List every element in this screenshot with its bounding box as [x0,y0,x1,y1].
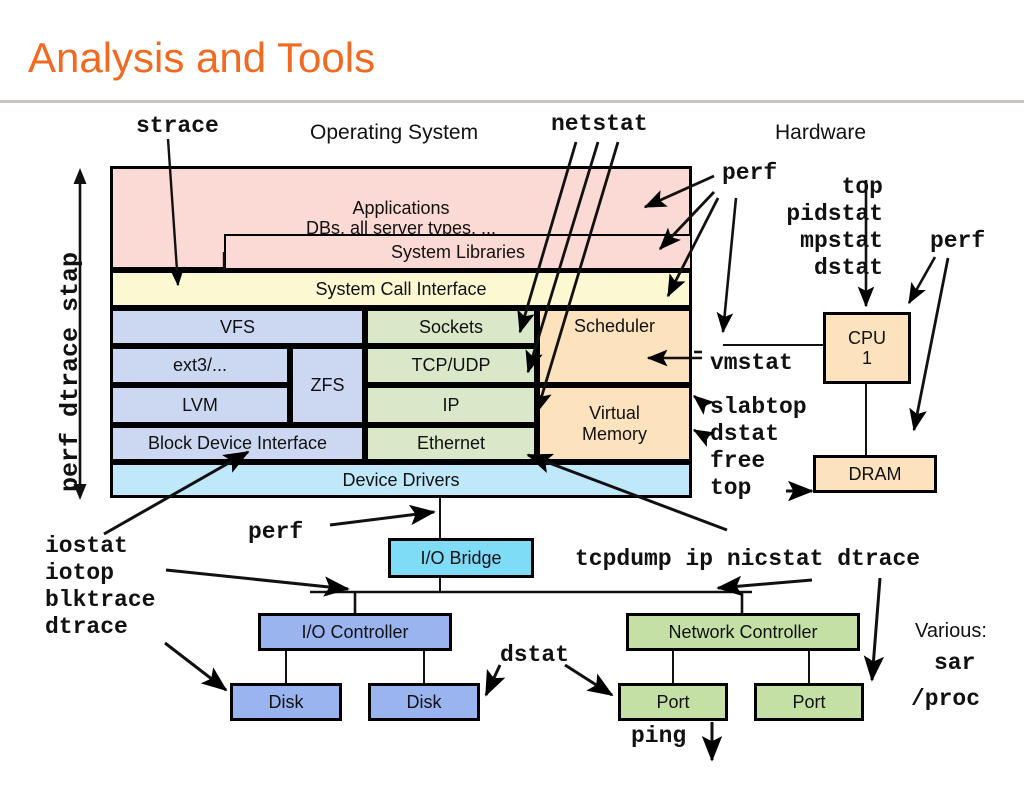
sockets-box[interactable]: Sockets [365,308,537,346]
system-libraries-label: System Libraries [391,242,525,262]
tcp-udp-box[interactable]: TCP/UDP [365,346,537,385]
zfs-label: ZFS [311,375,345,395]
virtual-memory-line1: Virtual [589,403,640,423]
virtual-memory-box[interactable]: Virtual Memory [537,385,692,462]
various-label: Various: [915,620,987,643]
system-libraries-box[interactable]: System Libraries [224,234,692,270]
vfs-label: VFS [220,317,255,337]
vfs-box[interactable]: VFS [110,308,365,346]
port-label-2: Port [792,692,825,712]
iotools-arrow-bus [166,570,348,589]
slide-canvas: Analysis and Tools Operating System Hard… [0,0,1024,786]
disk-label-2: Disk [407,692,442,712]
io-bridge-label: I/O Bridge [420,548,501,568]
sockets-label: Sockets [419,317,483,337]
cpu-tools-label: top pidstat mpstat dstat [750,174,883,282]
strace-label: strace [136,113,219,139]
cpu-index: 1 [862,348,872,368]
memory-tools-label: slabtop dstat free top [710,394,807,502]
ext3-box[interactable]: ext3/... [110,346,290,385]
hardware-heading: Hardware [775,121,866,145]
tcp-udp-label: TCP/UDP [411,355,490,375]
block-device-interface-box[interactable]: Block Device Interface [110,425,365,462]
title-divider [0,100,1024,103]
mem-tools-arrow-1 [694,396,706,406]
io-tools-label: iostat iotop blktrace dtrace [45,533,155,641]
device-drivers-box[interactable]: Device Drivers [110,462,692,498]
ethernet-box[interactable]: Ethernet [365,425,537,462]
perf-arrow-scheduler [723,198,736,332]
ping-label: ping [631,723,686,749]
ip-box[interactable]: IP [365,385,537,425]
various-sar-label: sar [934,650,975,676]
ip-label: IP [442,395,459,415]
perf-right-label: perf [930,228,985,254]
dstat-arrow-port1 [565,665,612,695]
net-tools-label: tcpdump ip nicstat dtrace [575,546,920,572]
lvm-label: LVM [182,395,218,415]
perf-bridge-label: perf [248,519,303,545]
left-vertical-tools-label: perf dtrace stap [56,252,85,492]
perf-right-arrow-cpu [909,257,935,303]
port-box-1[interactable]: Port [618,683,728,721]
operating-system-heading: Operating System [310,121,478,145]
netstat-label: netstat [551,111,648,137]
vmstat-label: vmstat [710,350,793,376]
block-device-interface-label: Block Device Interface [148,433,327,453]
zfs-box[interactable]: ZFS [290,346,365,425]
ethernet-label: Ethernet [417,433,485,453]
dtrace-arrow-port2 [872,578,880,680]
disk-box-2[interactable]: Disk [368,683,480,721]
ext3-label: ext3/... [173,355,227,375]
dstat-bottom-label: dstat [500,642,569,668]
slide-title: Analysis and Tools [28,33,375,83]
nettools-arrow-bus [718,580,812,588]
cpu-box[interactable]: CPU 1 [823,312,911,384]
io-controller-box[interactable]: I/O Controller [258,613,452,651]
lvm-box[interactable]: LVM [110,385,290,425]
system-call-interface-box[interactable]: System Call Interface [110,270,692,308]
device-drivers-label: Device Drivers [342,470,459,490]
disk-label-1: Disk [269,692,304,712]
cpu-label: CPU [848,328,886,348]
port-label-1: Port [656,692,689,712]
mem-tools-arrow-2 [694,430,708,438]
scheduler-box[interactable]: Scheduler [537,308,692,385]
dram-box[interactable]: DRAM [813,455,937,493]
dtrace-arrow-disk [165,643,226,690]
io-bridge-box[interactable]: I/O Bridge [388,538,534,578]
disk-box-1[interactable]: Disk [230,683,342,721]
virtual-memory-line2: Memory [582,424,647,444]
network-controller-box[interactable]: Network Controller [626,613,860,651]
various-proc-label: /proc [911,686,980,712]
dstat-arrow-disk2 [486,665,500,695]
port-box-2[interactable]: Port [754,683,864,721]
system-call-interface-label: System Call Interface [315,279,486,299]
network-controller-label: Network Controller [668,622,817,642]
dram-label: DRAM [849,464,902,484]
scheduler-label: Scheduler [574,316,655,336]
perf-right-arrow-dram [914,258,948,430]
io-controller-label: I/O Controller [301,622,408,642]
perf-arrow-io-bridge [330,512,434,525]
applications-title: Applications [352,198,449,218]
